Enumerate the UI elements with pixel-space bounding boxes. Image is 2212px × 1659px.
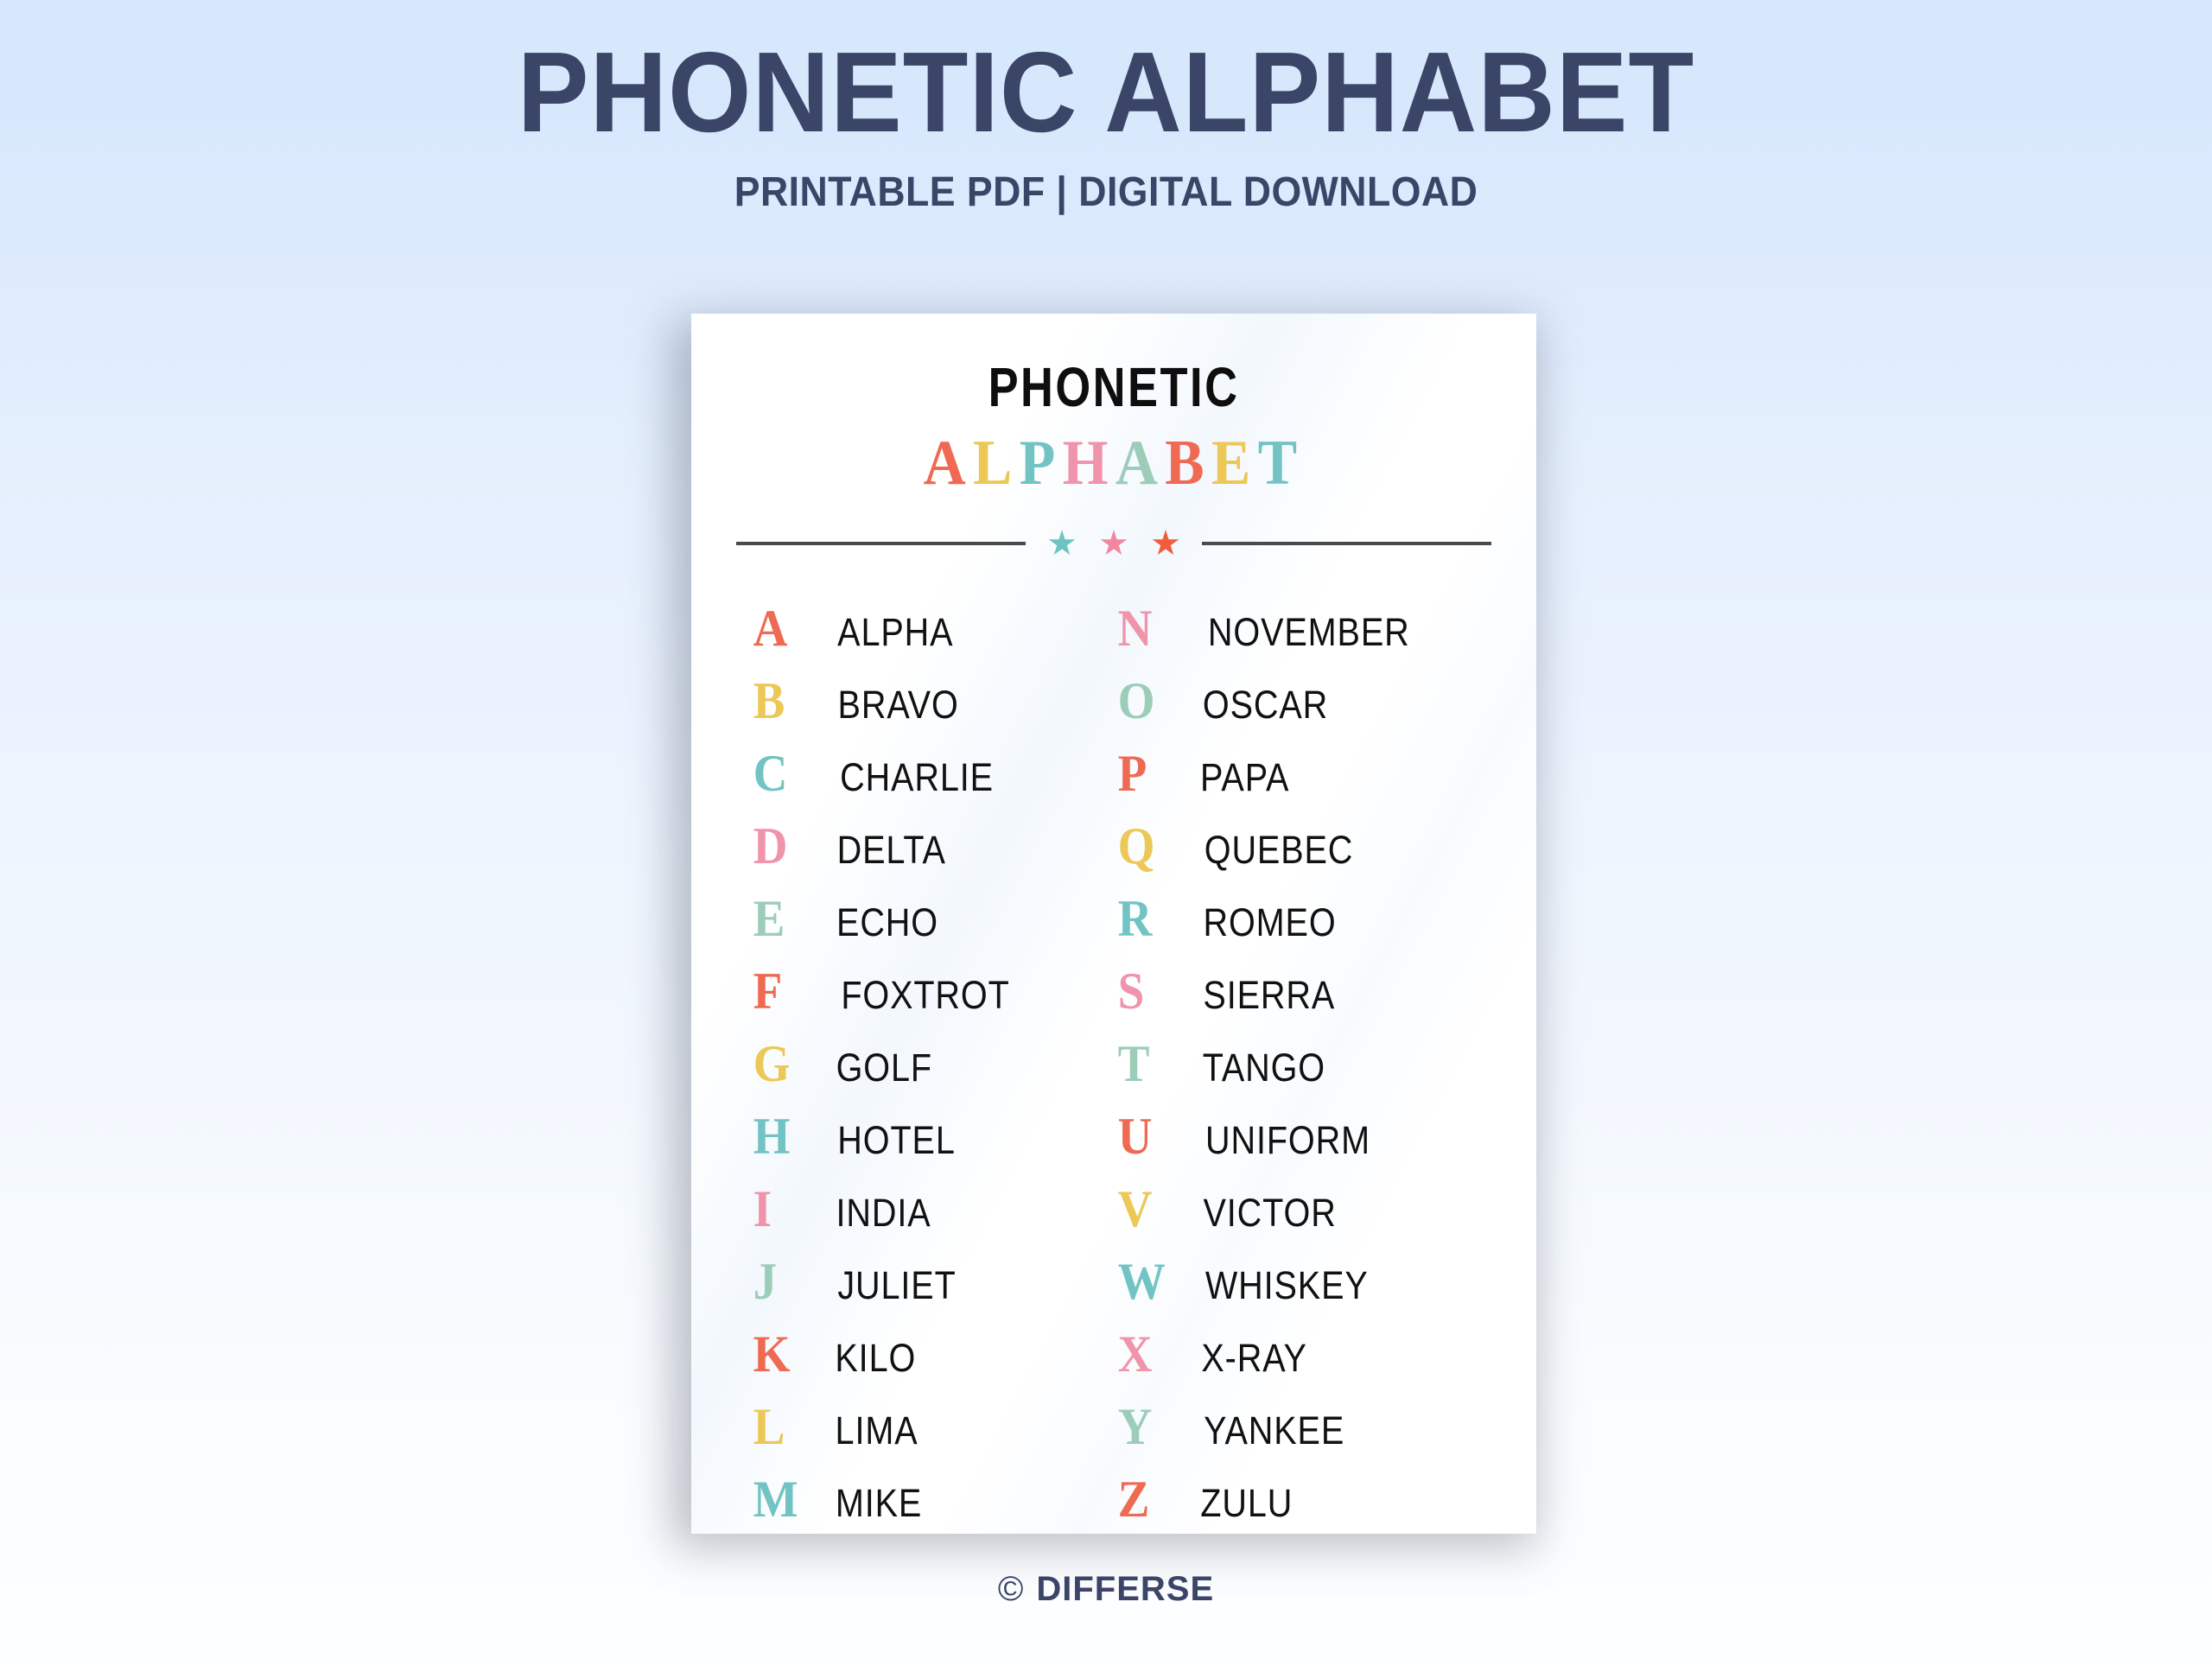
alphabet-row-x: XX-RAY — [1115, 1328, 1478, 1401]
alphabet-letter-q: Q — [1118, 820, 1192, 872]
alphabet-letter-d: D — [753, 820, 827, 872]
alphabet-word-q: QUEBEC — [1205, 830, 1354, 869]
alphabet-word-b: BRAVO — [838, 685, 959, 724]
page-header: PHONETIC ALPHABET PRINTABLE PDF | DIGITA… — [0, 0, 2212, 216]
alphabet-row-g: GGOLF — [750, 1038, 1113, 1110]
star-teal-icon — [1048, 530, 1076, 557]
alphabet-title-letter-5: B — [1165, 431, 1211, 495]
alphabet-title-letter-4: A — [1116, 431, 1165, 495]
alphabet-row-m: MMIKE — [750, 1473, 1113, 1534]
alphabet-row-i: IINDIA — [750, 1183, 1113, 1255]
alphabet-letter-h: H — [753, 1110, 827, 1162]
alphabet-row-c: CCHARLIE — [750, 747, 1113, 820]
alphabet-word-h: HOTEL — [837, 1121, 955, 1160]
alphabet-row-s: SSIERRA — [1115, 965, 1478, 1038]
star-divider — [736, 530, 1491, 557]
alphabet-word-n: NOVEMBER — [1208, 613, 1410, 652]
alphabet-letter-i: I — [753, 1183, 827, 1235]
alphabet-word-m: MIKE — [836, 1484, 922, 1522]
alphabet-row-y: YYANKEE — [1115, 1401, 1478, 1473]
alphabet-letter-k: K — [753, 1328, 827, 1380]
left-column: AALPHABBRAVOCCHARLIEDDELTAEECHOFFOXTROTG… — [750, 602, 1113, 1534]
alphabet-letter-m: M — [753, 1473, 827, 1525]
alphabet-word-u: UNIFORM — [1205, 1121, 1370, 1160]
alphabet-row-a: AALPHA — [750, 602, 1113, 675]
alphabet-letter-s: S — [1118, 965, 1192, 1017]
alphabet-word-i: INDIA — [836, 1193, 931, 1232]
copyright-icon: © — [998, 1570, 1024, 1608]
star-pink-icon — [1100, 530, 1128, 557]
alphabet-word-p: PAPA — [1200, 758, 1289, 797]
divider-star-group — [1026, 530, 1202, 557]
alphabet-row-b: BBRAVO — [750, 675, 1113, 747]
alphabet-title-letter-0: A — [924, 431, 973, 495]
alphabet-letter-w: W — [1118, 1255, 1192, 1307]
poster-preview[interactable]: PHONETIC ALPHABET AALPHABBRAVOCCHARLIEDD… — [691, 314, 1536, 1534]
divider-line-right — [1202, 542, 1491, 545]
alphabet-letter-a: A — [753, 602, 827, 654]
alphabet-word-e: ECHO — [836, 903, 938, 942]
alphabet-word-v: VICTOR — [1204, 1193, 1337, 1232]
alphabet-row-o: OOSCAR — [1115, 675, 1478, 747]
alphabet-letter-x: X — [1118, 1328, 1192, 1380]
alphabet-row-v: VVICTOR — [1115, 1183, 1478, 1255]
page-title: PHONETIC ALPHABET — [67, 31, 2145, 155]
alphabet-row-r: RROMEO — [1115, 893, 1478, 965]
alphabet-row-h: HHOTEL — [750, 1110, 1113, 1183]
alphabet-word-j: JULIET — [837, 1266, 956, 1305]
alphabet-word-y: YANKEE — [1204, 1411, 1344, 1450]
alphabet-title-letter-2: P — [1020, 431, 1063, 495]
alphabet-letter-f: F — [753, 965, 827, 1017]
alphabet-letter-o: O — [1118, 675, 1192, 727]
footer-credit: ©DIFFERSE — [0, 1570, 2212, 1609]
alphabet-word-k: KILO — [835, 1338, 916, 1377]
alphabet-title-letter-7: T — [1258, 431, 1305, 495]
alphabet-word-w: WHISKEY — [1205, 1266, 1369, 1305]
alphabet-row-n: NNOVEMBER — [1115, 602, 1478, 675]
alphabet-grid: AALPHABBRAVOCCHARLIEDDELTAEECHOFFOXTROTG… — [736, 602, 1491, 1534]
alphabet-word-s: SIERRA — [1203, 976, 1335, 1014]
alphabet-letter-b: B — [753, 675, 827, 727]
alphabet-word-r: ROMEO — [1204, 903, 1337, 942]
alphabet-letter-z: Z — [1118, 1473, 1192, 1525]
alphabet-row-u: UUNIFORM — [1115, 1110, 1478, 1183]
alphabet-word-c: CHARLIE — [840, 758, 994, 797]
divider-line-left — [736, 542, 1026, 545]
alphabet-title-letter-1: L — [973, 431, 1020, 495]
alphabet-word-l: LIMA — [836, 1411, 918, 1450]
alphabet-letter-e: E — [753, 893, 827, 944]
alphabet-row-d: DDELTA — [750, 820, 1113, 893]
alphabet-row-t: TTANGO — [1115, 1038, 1478, 1110]
alphabet-row-l: LLIMA — [750, 1401, 1113, 1473]
alphabet-word-z: ZULU — [1200, 1484, 1293, 1522]
alphabet-word-a: ALPHA — [837, 613, 953, 652]
alphabet-letter-g: G — [753, 1038, 827, 1090]
alphabet-row-z: ZZULU — [1115, 1473, 1478, 1534]
alphabet-letter-y: Y — [1118, 1401, 1192, 1452]
alphabet-word-g: GOLF — [836, 1048, 932, 1087]
alphabet-letter-l: L — [753, 1401, 827, 1452]
alphabet-letter-u: U — [1118, 1110, 1192, 1162]
page-subtitle: PRINTABLE PDF | DIGITAL DOWNLOAD — [78, 168, 2135, 216]
alphabet-letter-n: N — [1118, 602, 1192, 654]
alphabet-word-t: TANGO — [1203, 1048, 1325, 1087]
alphabet-letter-t: T — [1118, 1038, 1192, 1090]
alphabet-row-q: QQUEBEC — [1115, 820, 1478, 893]
alphabet-row-p: PPAPA — [1115, 747, 1478, 820]
alphabet-letter-j: J — [753, 1255, 827, 1307]
brand-name: DIFFERSE — [1036, 1570, 1214, 1608]
poster-sheet: PHONETIC ALPHABET AALPHABBRAVOCCHARLIEDD… — [691, 314, 1536, 1534]
alphabet-letter-p: P — [1118, 747, 1192, 799]
alphabet-word-f: FOXTROT — [841, 976, 1009, 1014]
alphabet-letter-c: C — [753, 747, 827, 799]
alphabet-letter-r: R — [1118, 893, 1192, 944]
alphabet-word-d: DELTA — [837, 830, 946, 869]
alphabet-word-x: X-RAY — [1201, 1338, 1306, 1377]
alphabet-letter-v: V — [1118, 1183, 1192, 1235]
poster-title-alphabet: ALPHABET — [766, 431, 1461, 495]
right-column: NNOVEMBEROOSCARPPAPAQQUEBECRROMEOSSIERRA… — [1115, 602, 1478, 1534]
star-coral-icon — [1152, 530, 1179, 557]
alphabet-row-w: WWHISKEY — [1115, 1255, 1478, 1328]
alphabet-title-letter-3: H — [1063, 431, 1116, 495]
alphabet-row-e: EECHO — [750, 893, 1113, 965]
alphabet-row-f: FFOXTROT — [750, 965, 1113, 1038]
alphabet-row-j: JJULIET — [750, 1255, 1113, 1328]
alphabet-title-letter-6: E — [1211, 431, 1258, 495]
alphabet-word-o: OSCAR — [1203, 685, 1328, 724]
alphabet-row-k: KKILO — [750, 1328, 1113, 1401]
poster-title-phonetic: PHONETIC — [804, 355, 1424, 419]
